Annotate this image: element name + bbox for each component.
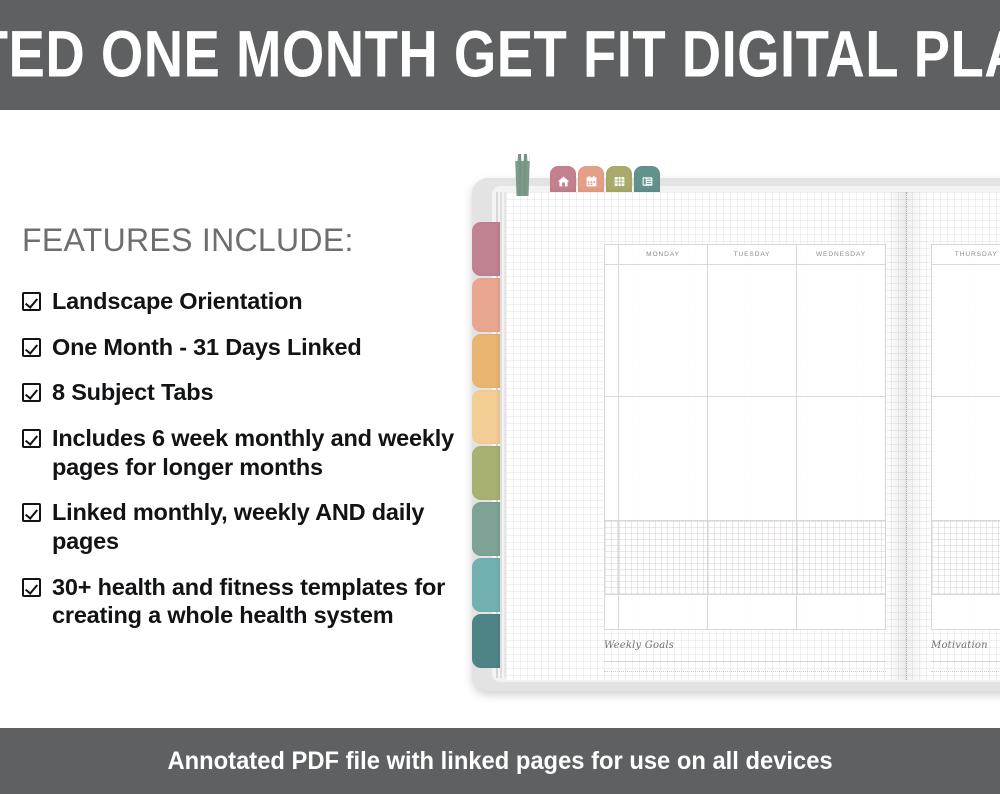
side-tab-7[interactable] <box>472 558 500 612</box>
top-tab-calendar[interactable] <box>578 166 604 192</box>
top-tab-strip <box>550 166 660 192</box>
checkbox-checked-icon <box>22 578 41 597</box>
feature-item-landscape-orientation: Landscape Orientation <box>22 287 462 316</box>
day-cell[interactable] <box>619 397 707 521</box>
day-cell-grid[interactable] <box>619 521 707 595</box>
time-label-column <box>605 245 619 629</box>
top-tab-grid[interactable] <box>606 166 632 192</box>
feature-item-8-subject-tabs: 8 Subject Tabs <box>22 378 462 407</box>
bottom-banner: Annotated PDF file with linked pages for… <box>0 728 1000 794</box>
features-panel: FEATURES INCLUDE: Landscape Orientation … <box>22 222 462 647</box>
motivation-section: Motivation <box>931 640 1000 680</box>
weekly-goals-section: Weekly Goals <box>604 640 886 680</box>
day-cell[interactable] <box>708 265 796 397</box>
side-tab-5[interactable] <box>472 446 500 500</box>
side-tab-1[interactable] <box>472 222 500 276</box>
bottom-banner-label: Annotated PDF file with linked pages for… <box>167 749 832 774</box>
bookmark-ribbon-icon <box>514 154 531 196</box>
feature-label: 30+ health and fitness templates for cre… <box>52 573 462 630</box>
note-line[interactable] <box>604 671 886 672</box>
day-cells <box>797 265 885 629</box>
top-banner: UNDATED ONE MONTH GET FIT DIGITAL PLANNE… <box>0 0 1000 110</box>
note-line[interactable] <box>931 671 1000 672</box>
home-icon <box>557 175 570 188</box>
feature-label: Landscape Orientation <box>52 287 302 316</box>
day-cells <box>605 265 618 629</box>
page-title: UNDATED ONE MONTH GET FIT DIGITAL PLANNE… <box>0 22 1000 88</box>
grid-icon <box>613 175 626 188</box>
checkbox-checked-icon <box>22 338 41 357</box>
day-cells <box>708 265 796 629</box>
day-cell[interactable] <box>708 397 796 521</box>
side-tab-strip <box>472 222 500 670</box>
planner-spread: MONDAY TUESDAY <box>506 192 1000 680</box>
weekly-goals-title: Weekly Goals <box>604 640 886 651</box>
day-cell[interactable] <box>797 595 885 629</box>
day-header: MONDAY <box>619 245 707 265</box>
day-header: WEDNESDAY <box>797 245 885 265</box>
day-cell[interactable] <box>619 265 707 397</box>
day-cell[interactable] <box>619 595 707 629</box>
day-cell-grid[interactable] <box>797 521 885 595</box>
day-column-tuesday[interactable]: TUESDAY <box>708 245 797 629</box>
top-tab-home[interactable] <box>550 166 576 192</box>
checkbox-checked-icon <box>22 429 41 448</box>
planner-left-page: MONDAY TUESDAY <box>506 192 898 680</box>
side-tab-3[interactable] <box>472 334 500 388</box>
day-header: THURSDAY <box>932 245 1000 265</box>
day-header-blank <box>605 245 618 265</box>
day-cell[interactable] <box>605 595 618 629</box>
checkbox-checked-icon <box>22 292 41 311</box>
note-line[interactable] <box>931 661 1000 662</box>
side-tab-6[interactable] <box>472 502 500 556</box>
day-cell[interactable] <box>708 595 796 629</box>
weekly-table-left: MONDAY TUESDAY <box>604 244 886 630</box>
side-tab-2[interactable] <box>472 278 500 332</box>
side-tab-8[interactable] <box>472 614 500 668</box>
motivation-title: Motivation <box>931 640 1000 651</box>
feature-label: Linked monthly, weekly AND daily pages <box>52 498 462 555</box>
feature-item-one-month-31-days: One Month - 31 Days Linked <box>22 333 462 362</box>
feature-item-health-templates: 30+ health and fitness templates for cre… <box>22 573 462 630</box>
feature-list: Landscape Orientation One Month - 31 Day… <box>22 287 462 630</box>
day-cell[interactable] <box>797 397 885 521</box>
day-cell[interactable] <box>932 397 1000 521</box>
day-cell[interactable] <box>932 265 1000 397</box>
day-column-monday[interactable]: MONDAY <box>619 245 708 629</box>
list-icon <box>641 175 654 188</box>
weekly-table-right: THURSDAY <box>931 244 1000 630</box>
checkbox-checked-icon <box>22 503 41 522</box>
planner-right-page: THURSDAY <box>916 192 1000 680</box>
day-cell-grid[interactable] <box>932 521 1000 595</box>
note-line[interactable] <box>604 661 886 662</box>
page-edge <box>500 192 502 678</box>
feature-label: 8 Subject Tabs <box>52 378 213 407</box>
day-cell-grid[interactable] <box>605 521 618 595</box>
day-cells <box>619 265 707 629</box>
feature-item-linked-pages: Linked monthly, weekly AND daily pages <box>22 498 462 555</box>
day-cell[interactable] <box>932 595 1000 629</box>
spine-center-line <box>906 192 907 680</box>
side-tab-4[interactable] <box>472 390 500 444</box>
checkbox-checked-icon <box>22 383 41 402</box>
day-cells <box>932 265 1000 629</box>
day-cell[interactable] <box>605 397 618 521</box>
calendar-icon <box>585 175 598 188</box>
planner-mockup: MONDAY TUESDAY <box>464 166 1000 696</box>
day-column-wednesday[interactable]: WEDNESDAY <box>797 245 885 629</box>
feature-label: Includes 6 week monthly and weekly pages… <box>52 424 462 481</box>
day-cell[interactable] <box>797 265 885 397</box>
day-column-thursday[interactable]: THURSDAY <box>932 245 1000 629</box>
day-cell[interactable] <box>605 265 618 397</box>
top-tab-list[interactable] <box>634 166 660 192</box>
features-heading: FEATURES INCLUDE: <box>22 222 462 259</box>
feature-label: One Month - 31 Days Linked <box>52 333 362 362</box>
product-listing-image: UNDATED ONE MONTH GET FIT DIGITAL PLANNE… <box>0 0 1000 794</box>
day-header: TUESDAY <box>708 245 796 265</box>
feature-item-6-week-pages: Includes 6 week monthly and weekly pages… <box>22 424 462 481</box>
day-cell-grid[interactable] <box>708 521 796 595</box>
planner-cover: MONDAY TUESDAY <box>472 178 1000 691</box>
